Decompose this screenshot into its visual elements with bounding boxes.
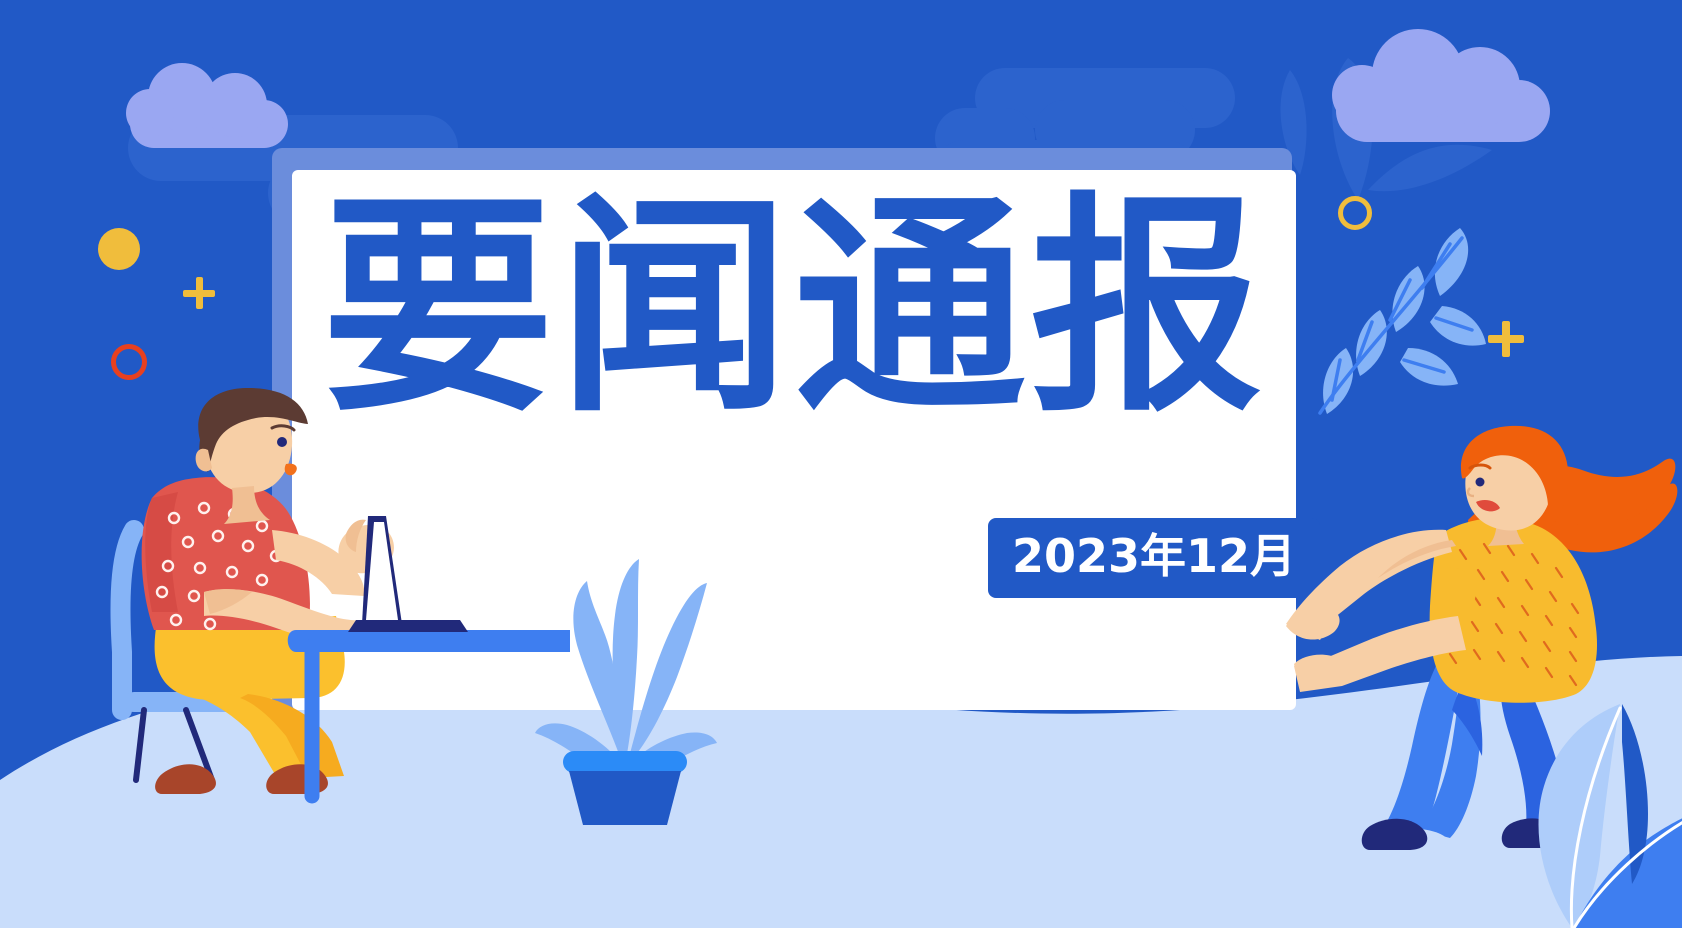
red-ring-icon [111,344,147,380]
branch-icon [1310,218,1490,413]
corner-leaf-decoration [1452,690,1682,928]
yellow-dot-icon [98,228,140,270]
poster-canvas: 要闻通报 2023年12月 [0,0,1682,928]
cloud-icon [1328,25,1558,147]
potted-plant-illustration [525,495,725,825]
cloud-icon [120,55,300,150]
left-figure-illustration [100,380,570,840]
yellow-plus-icon [1502,321,1510,357]
yellow-plus-icon [196,277,203,309]
